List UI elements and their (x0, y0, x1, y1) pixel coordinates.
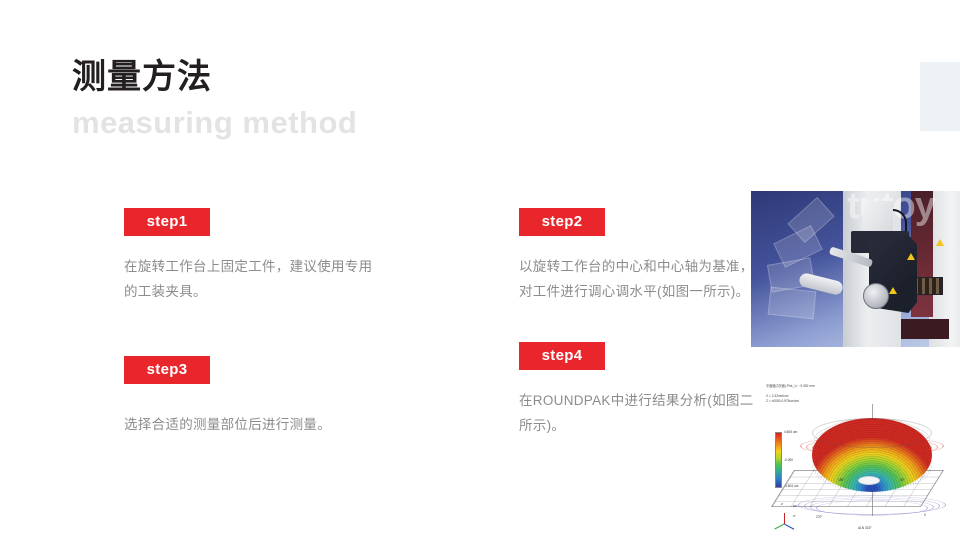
step-badge-1: step1 (124, 208, 210, 236)
plot-3d-surface (812, 418, 932, 492)
step-block-1: step1 在旋转工作台上固定工件，建议使用专用的工装夹具。 (124, 208, 384, 304)
plot-label-180: 180° (838, 478, 845, 482)
triad-label-y: 90° (793, 504, 798, 508)
photo-fan-blade (768, 287, 817, 320)
plot-label-90: 90° (900, 478, 905, 482)
slide-canvas: 测量方法 measuring method step1 在旋转工作台上固定工件，… (0, 0, 960, 540)
triad-label-z: Z (781, 502, 783, 506)
warning-triangle-icon (907, 253, 915, 260)
slide-title-group: 测量方法 measuring method (72, 55, 357, 143)
photo-detector-head (863, 201, 893, 233)
plot-label-0: 0 (924, 513, 926, 517)
plot-colorbar (775, 432, 782, 488)
warning-triangle-icon (936, 239, 944, 246)
step-description-1: 在旋转工作台上固定工件，建议使用专用的工装夹具。 (124, 254, 382, 304)
step-badge-3: step3 (124, 356, 210, 384)
warning-triangle-icon (889, 287, 897, 294)
surface-center-hole (858, 476, 880, 485)
step-description-4: 在ROUNDPAK中进行结果分析(如图二所示)。 (519, 388, 765, 438)
step-badge-4: step4 (519, 342, 605, 370)
triad-label-x: 0° (793, 514, 796, 518)
photo-adjust-knob (863, 283, 889, 309)
corner-decoration-block (920, 62, 960, 131)
step-block-3: step3 选择合适的测量部位后进行测量。 (124, 356, 384, 437)
plot-axis-triad: Z 90° 0° (778, 502, 804, 528)
plot-label-270: 270° (816, 515, 823, 519)
photo-maroon-base (901, 319, 949, 339)
step-block-4: step4 在ROUNDPAK中进行结果分析(如图二所示)。 (519, 342, 769, 438)
surface-rim (812, 418, 932, 448)
triad-y-axis (784, 524, 794, 530)
triad-x-axis (774, 524, 784, 530)
step-block-2: step2 以旋转工作台的中心和中心轴为基准，对工件进行调心调水平(如图一所示)… (519, 208, 769, 304)
triad-z-axis (784, 513, 785, 524)
plot-title: 平面度(3次面)-Plot_1> : 9.352 mm (766, 384, 815, 389)
plot-scale-z: Z = ±0000-0.975um/cm (766, 399, 799, 404)
page-title: 测量方法 (72, 55, 357, 99)
plot-label-bottom: ALN 315° (858, 526, 872, 530)
step-description-2: 以旋转工作台的中心和中心轴为基准，对工件进行调心调水平(如图一所示)。 (519, 254, 765, 304)
colorbar-max-label: 4.605 um (784, 430, 797, 434)
analysis-plot-figure: 平面度(3次面)-Plot_1> : 9.352 mm X = 2.32mm/c… (760, 382, 956, 534)
page-subtitle: measuring method (72, 103, 357, 143)
colorbar-mid-label: -0.000 (784, 458, 793, 462)
plot-scale-info: X = 2.32mm/cm Z = ±0000-0.975um/cm (766, 394, 799, 403)
step-badge-2: step2 (519, 208, 605, 236)
machine-photo-figure: tutoy (751, 191, 960, 347)
step-description-3: 选择合适的测量部位后进行测量。 (124, 412, 382, 437)
